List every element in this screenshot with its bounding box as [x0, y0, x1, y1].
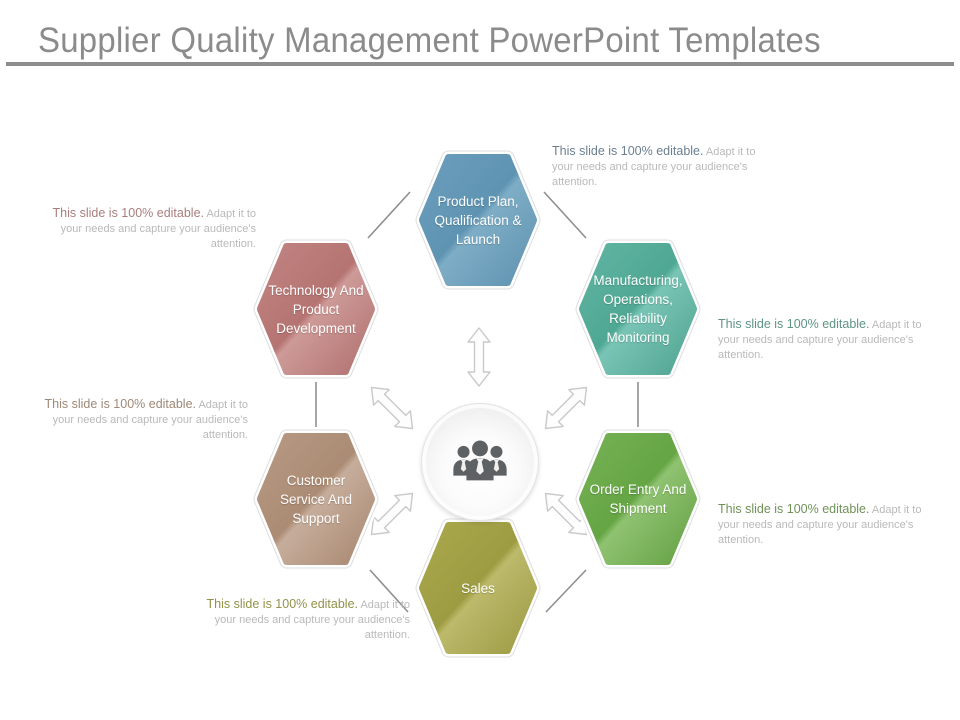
page-title: Supplier Quality Management PowerPoint T… [38, 20, 821, 62]
hexagon-node-manufacturing[interactable]: Manufacturing, Operations, Reliability M… [572, 235, 704, 383]
arrow-up-icon [468, 328, 490, 386]
hexagon-shape [416, 151, 540, 289]
hexagon-node-customer-service[interactable]: Customer Service And Support [250, 425, 382, 573]
hexagon-shape [576, 430, 700, 568]
slide-header: Supplier Quality Management PowerPoint T… [0, 0, 960, 70]
hexagon-shape [576, 240, 700, 378]
team-group-icon [449, 431, 511, 493]
title-divider [6, 62, 954, 66]
center-hub-node[interactable] [421, 403, 539, 521]
hexagon-node-sales[interactable]: Sales [412, 514, 544, 662]
hexagon-node-technology[interactable]: Technology And Product Development [250, 235, 382, 383]
hexagon-shape [254, 240, 378, 378]
hexagon-shape [254, 430, 378, 568]
hexagon-shape [416, 519, 540, 657]
hexagon-node-order-entry[interactable]: Order Entry And Shipment [572, 425, 704, 573]
hexagon-cycle-diagram: Product Plan, Qualification & Launch Man… [0, 70, 960, 720]
hexagon-node-product-plan[interactable]: Product Plan, Qualification & Launch [412, 146, 544, 294]
